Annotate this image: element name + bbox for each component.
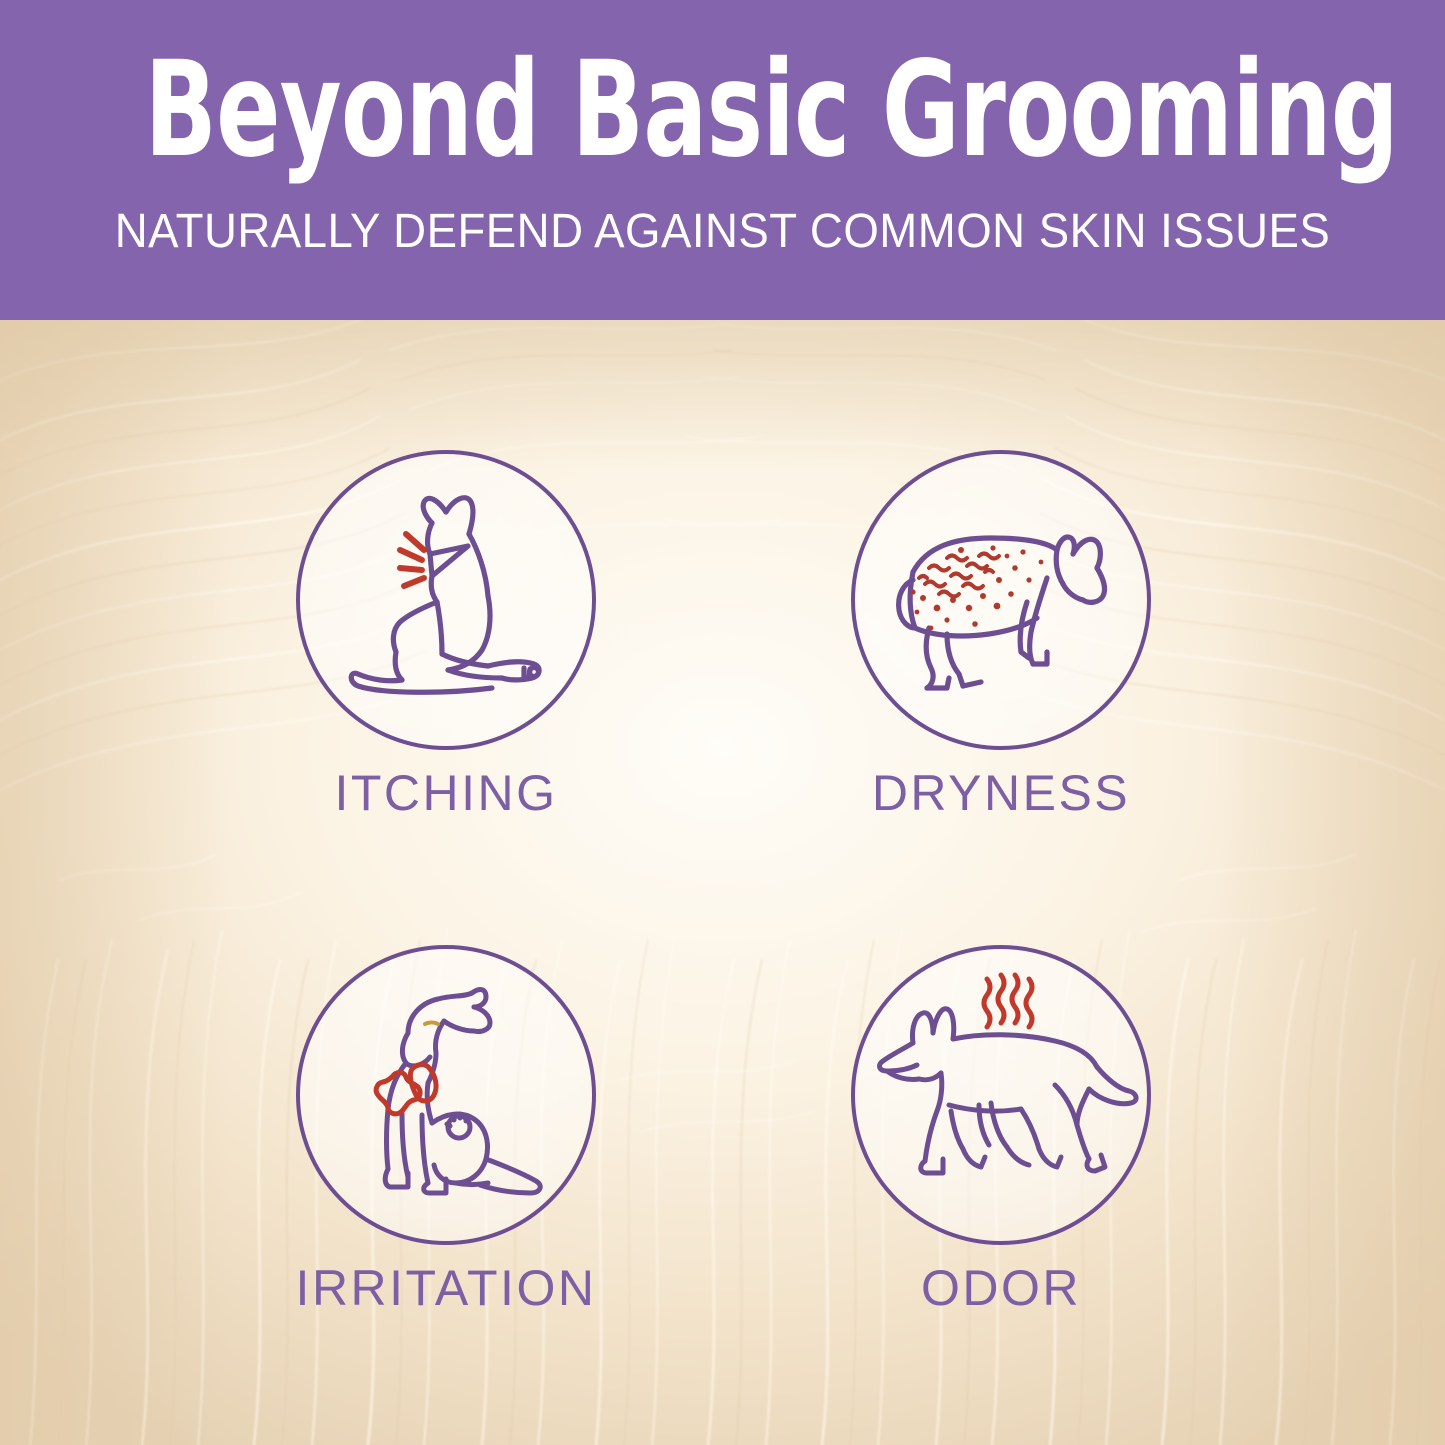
dog-scratching-icon [296, 450, 596, 750]
icon-badge-itching [296, 450, 596, 750]
issue-label-irritation: IRRITATION [206, 1263, 686, 1313]
page-title: Beyond Basic Grooming [145, 44, 1301, 176]
dog-irritated-skin-patch-icon [296, 945, 596, 1245]
skin-issues-grid: ITCHING [0, 320, 1445, 1445]
issue-item-dryness: DRYNESS [761, 450, 1241, 920]
header-banner: Beyond Basic Grooming NATURALLY DEFEND A… [0, 0, 1445, 320]
page-subtitle: NATURALLY DEFEND AGAINST COMMON SKIN ISS… [36, 208, 1409, 256]
icon-badge-odor [851, 945, 1151, 1245]
product-infographic: Beyond Basic Grooming NATURALLY DEFEND A… [0, 0, 1445, 1445]
issue-label-itching: ITCHING [206, 768, 686, 818]
issue-label-odor: ODOR [761, 1263, 1241, 1313]
issue-item-irritation: IRRITATION [206, 945, 686, 1415]
red-wavy-lines [984, 975, 1032, 1027]
issue-item-odor: ODOR [761, 945, 1241, 1415]
issue-item-itching: ITCHING [206, 450, 686, 920]
issue-label-dryness: DRYNESS [761, 768, 1241, 818]
dog-odor-waves-icon [851, 945, 1151, 1245]
icon-badge-irritation [296, 945, 596, 1245]
icon-badge-dryness [851, 450, 1151, 750]
red-scratch-lines [400, 534, 424, 586]
tan-mark [425, 1023, 438, 1025]
dog-dandruff-flakes-icon [851, 450, 1151, 750]
